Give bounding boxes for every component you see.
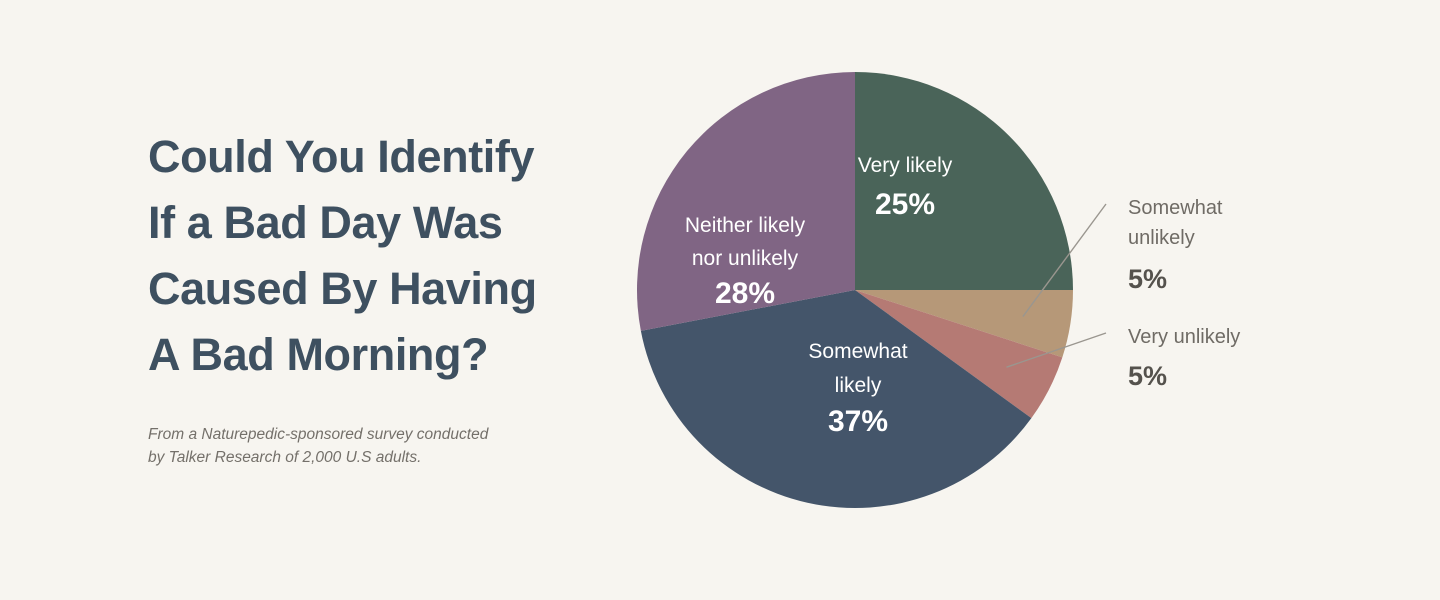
callout-label-text: Very unlikely [1128, 326, 1240, 348]
pie-slice-very-likely[interactable] [855, 72, 1073, 290]
slice-label-text: nor unlikely [692, 247, 799, 270]
pie-chart: Very likely25%Somewhatlikely37%Neither l… [0, 0, 1440, 600]
slice-label-text: likely [835, 374, 882, 397]
callout-label-text: unlikely [1128, 227, 1195, 249]
pie-slice-group [637, 72, 1073, 508]
infographic-canvas: Could You Identify If a Bad Day Was Caus… [0, 0, 1440, 600]
callout-labels: Somewhatunlikely5%Very unlikely5% [1128, 197, 1240, 391]
pie-chart-svg: Very likely25%Somewhatlikely37%Neither l… [0, 0, 1440, 600]
callout-label-text: Somewhat [1128, 197, 1223, 219]
slice-label-percent: 37% [828, 405, 888, 438]
callout-label-percent: 5% [1128, 264, 1167, 294]
slice-label-text: Neither likely [685, 214, 806, 237]
slice-label-percent: 25% [875, 188, 935, 221]
slice-label-text: Very likely [858, 154, 953, 177]
slice-label-percent: 28% [715, 277, 775, 310]
callout-label-percent: 5% [1128, 361, 1167, 391]
slice-label-text: Somewhat [808, 340, 907, 363]
